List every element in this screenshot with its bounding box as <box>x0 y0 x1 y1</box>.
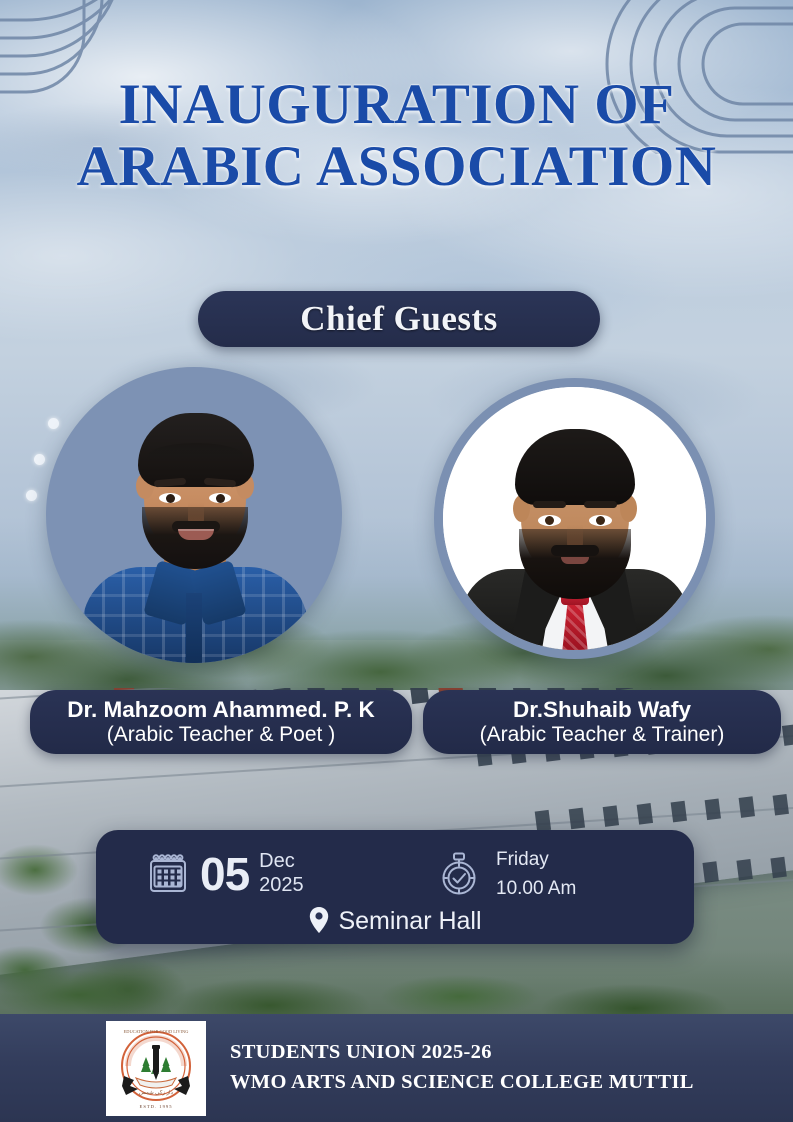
college-emblem-icon: EDUCATION FOR GOOD LIVING دار زكي شمس ES… <box>110 1024 202 1112</box>
location-pin-icon <box>308 906 330 936</box>
event-date-group: 05 Dec 2025 <box>96 844 436 904</box>
event-venue: Seminar Hall <box>338 907 481 936</box>
poster-title: INAUGURATION OF ARABIC ASSOCIATION <box>0 76 793 196</box>
guest-1-photo <box>46 367 342 663</box>
chief-guests-heading: Chief Guests <box>198 291 600 347</box>
guest-1-name-card: Dr. Mahzoom Ahammed. P. K (Arabic Teache… <box>30 690 412 754</box>
footer-line-2: WMO ARTS AND SCIENCE COLLEGE MUTTIL <box>230 1068 694 1098</box>
guest-1-role: (Arabic Teacher & Poet ) <box>107 723 335 747</box>
footer-text-block: STUDENTS UNION 2025-26 WMO ARTS AND SCIE… <box>230 1038 694 1097</box>
event-time-group: Friday 10.00 Am <box>436 844 576 904</box>
poster-footer: EDUCATION FOR GOOD LIVING دار زكي شمس ES… <box>0 1014 793 1122</box>
guest-2-role: (Arabic Teacher & Trainer) <box>480 723 725 747</box>
chief-guests-label: Chief Guests <box>300 299 498 339</box>
poster-canvas: INAUGURATION OF ARABIC ASSOCIATION Chief… <box>0 0 793 1122</box>
footer-line-1: STUDENTS UNION 2025-26 <box>230 1038 694 1068</box>
title-line-1: INAUGURATION OF <box>0 76 793 134</box>
event-venue-group: Seminar Hall <box>96 906 694 936</box>
event-details-card: 05 Dec 2025 <box>96 830 694 944</box>
college-logo: EDUCATION FOR GOOD LIVING دار زكي شمس ES… <box>106 1021 206 1116</box>
guest-1-name: Dr. Mahzoom Ahammed. P. K <box>67 697 375 722</box>
guest-2-photo <box>434 378 715 659</box>
event-year: 2025 <box>259 874 304 898</box>
svg-text:ESTD. 1995: ESTD. 1995 <box>140 1104 173 1109</box>
stopwatch-icon <box>436 850 482 898</box>
guest-2-name-card: Dr.Shuhaib Wafy (Arabic Teacher & Traine… <box>423 690 781 754</box>
event-weekday: Friday <box>496 845 576 874</box>
event-time: 10.00 Am <box>496 874 576 903</box>
svg-text:دار زكي شمس: دار زكي شمس <box>139 1089 174 1096</box>
event-day: 05 <box>200 851 249 897</box>
calendar-icon <box>146 852 190 896</box>
event-month: Dec <box>259 850 304 874</box>
title-line-2: ARABIC ASSOCIATION <box>0 138 793 196</box>
svg-text:EDUCATION FOR GOOD LIVING: EDUCATION FOR GOOD LIVING <box>124 1029 190 1034</box>
guest-2-name: Dr.Shuhaib Wafy <box>513 697 691 722</box>
